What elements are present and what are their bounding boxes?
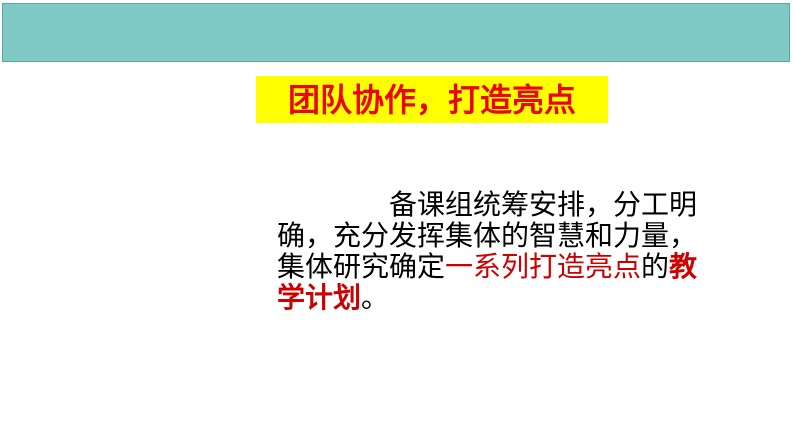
body-paragraph: 备课组统筹安排，分工明确，充分发挥集体的智慧和力量，集体研究确定一系列打造亮点的… bbox=[277, 189, 713, 313]
decorative-teal-band bbox=[2, 3, 790, 62]
slide-canvas: 团队协作，打造亮点 备课组统筹安排，分工明确，充分发挥集体的智慧和力量，集体研究… bbox=[0, 0, 794, 447]
body-text-segment-2: 的 bbox=[641, 250, 669, 283]
slide-title: 团队协作，打造亮点 bbox=[288, 84, 576, 116]
body-text-block: 备课组统筹安排，分工明确，充分发挥集体的智慧和力量，集体研究确定一系列打造亮点的… bbox=[277, 189, 713, 313]
body-text-segment-1: 一系列打造亮点 bbox=[445, 250, 641, 283]
title-highlight-banner: 团队协作，打造亮点 bbox=[256, 76, 608, 123]
body-text-segment-4: 。 bbox=[361, 281, 389, 314]
